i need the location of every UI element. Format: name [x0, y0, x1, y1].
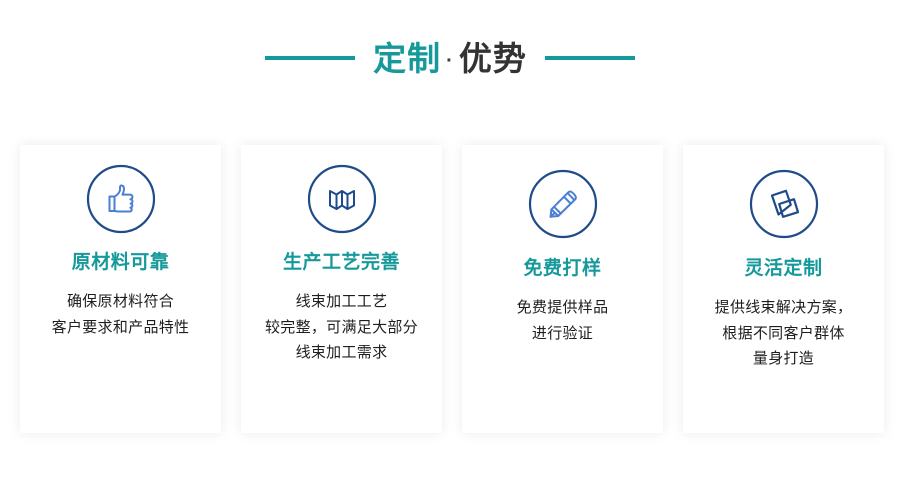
- custom-advantage-section: 定制 · 优势 原材料可靠: [0, 0, 900, 499]
- heading-main-text: 优势: [459, 42, 527, 75]
- description-line: 进行验证: [517, 321, 609, 347]
- folded-map-icon: [306, 163, 378, 235]
- heading-rule-right: [545, 56, 635, 60]
- advantage-card-description: 确保原材料符合 客户要求和产品特性: [46, 289, 196, 341]
- description-line: 较完整，可满足大部分: [265, 315, 418, 341]
- heading-separator-dot: ·: [441, 51, 459, 71]
- advantage-card-3[interactable]: 免费打样 免费提供样品 进行验证: [462, 145, 663, 433]
- advantage-card-list: 原材料可靠 确保原材料符合 客户要求和产品特性 生产工艺完善: [20, 145, 885, 435]
- advantage-card-2[interactable]: 生产工艺完善 线束加工工艺 较完整，可满足大部分 线束加工需求: [241, 145, 442, 433]
- stacked-cards-icon: [748, 168, 820, 240]
- advantage-card-title: 免费打样: [523, 258, 601, 281]
- description-line: 免费提供样品: [517, 295, 609, 321]
- pencil-icon: [527, 168, 599, 240]
- advantage-card-title: 灵活定制: [744, 258, 822, 281]
- advantage-card-title: 原材料可靠: [72, 252, 170, 275]
- description-line: 线束加工需求: [265, 340, 418, 366]
- description-line: 确保原材料符合: [52, 289, 190, 315]
- heading-rule-left: [265, 56, 355, 60]
- advantage-card-description: 免费提供样品 进行验证: [511, 295, 615, 347]
- advantage-card-4[interactable]: 灵活定制 提供线束解决方案， 根据不同客户群体 量身打造: [683, 145, 884, 433]
- page-title: 定制 · 优势: [373, 42, 527, 75]
- description-line: 提供线束解决方案，: [715, 295, 853, 321]
- description-line: 线束加工工艺: [265, 289, 418, 315]
- advantage-card-1[interactable]: 原材料可靠 确保原材料符合 客户要求和产品特性: [20, 145, 221, 433]
- section-heading: 定制 · 优势: [0, 28, 900, 88]
- description-line: 客户要求和产品特性: [52, 315, 190, 341]
- thumbs-up-icon: [85, 163, 157, 235]
- heading-accent-text: 定制: [373, 42, 441, 75]
- advantage-card-description: 线束加工工艺 较完整，可满足大部分 线束加工需求: [259, 289, 424, 366]
- advantage-card-description: 提供线束解决方案， 根据不同客户群体 量身打造: [709, 295, 859, 372]
- description-line: 根据不同客户群体: [715, 321, 853, 347]
- advantage-card-title: 生产工艺完善: [283, 252, 400, 275]
- description-line: 量身打造: [715, 346, 853, 372]
